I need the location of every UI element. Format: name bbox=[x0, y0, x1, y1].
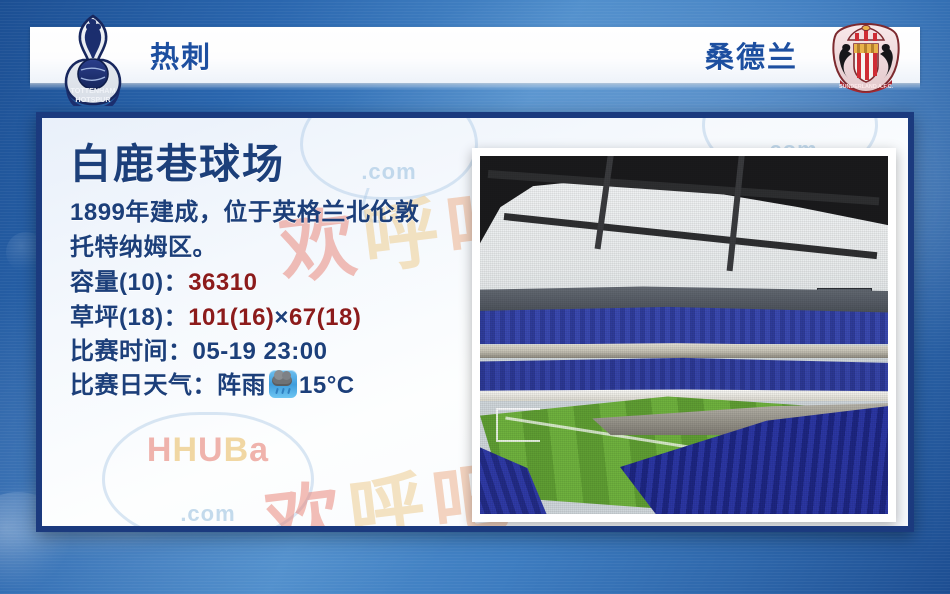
stadium-name-title: 白鹿巷球场 bbox=[70, 142, 500, 186]
sunderland-afc-crest-icon: SUNDERLAND A.F.C. bbox=[830, 22, 902, 94]
match-time-value: 05-19 23:00 bbox=[193, 338, 328, 365]
pitch-size-separator: × bbox=[274, 304, 289, 331]
match-time-row: 比赛时间：05-19 23:00 bbox=[70, 335, 500, 369]
away-team-name: 桑德兰 bbox=[705, 34, 798, 76]
pitch-length-value: 101(16) bbox=[188, 304, 274, 331]
stadium-description-line-1: 1899年建成，位于英格兰北伦敦 bbox=[70, 196, 500, 230]
watermark-cheer-char: 欢 bbox=[261, 473, 355, 526]
stadium-details: 白鹿巷球场 1899年建成，位于英格兰北伦敦 托特纳姆区。 容量(10)：363… bbox=[70, 142, 500, 403]
svg-text:TOTTENHAM: TOTTENHAM bbox=[71, 86, 116, 95]
stadium-photo bbox=[480, 156, 888, 514]
stadium-info-card: 热刺 桑德兰 TOTTENHAM HOTSPUR bbox=[0, 0, 950, 594]
stadium-description-line-2: 托特纳姆区。 bbox=[70, 231, 500, 265]
pitch-width-value: 67(18) bbox=[289, 304, 361, 331]
weather-label: 比赛日天气： bbox=[70, 372, 217, 399]
tottenham-hotspur-crest-icon: TOTTENHAM HOTSPUR bbox=[62, 14, 124, 106]
stadium-info-panel: .com HHUBa .com .com 欢呼吧 欢呼吧 白鹿巷球场 1899年… bbox=[36, 112, 914, 532]
capacity-row: 容量(10)：36310 bbox=[70, 266, 500, 300]
capacity-value: 36310 bbox=[188, 269, 257, 296]
watermark-bubble-left: HHUBa .com bbox=[102, 412, 314, 526]
stadium-photo-frame bbox=[472, 148, 896, 522]
weather-temperature: 15°C bbox=[299, 372, 355, 399]
goal-post bbox=[496, 408, 540, 442]
watermark-cheer-char: 呼 bbox=[344, 463, 438, 526]
home-team-name: 热刺 bbox=[150, 34, 212, 76]
weather-condition: 阵雨 bbox=[217, 372, 266, 399]
pitch-size-row: 草坪(18)：101(16)×67(18) bbox=[70, 301, 500, 335]
watermark-dotcom-text: .com bbox=[105, 501, 311, 526]
svg-text:HOTSPUR: HOTSPUR bbox=[75, 95, 111, 104]
svg-text:SUNDERLAND A.F.C.: SUNDERLAND A.F.C. bbox=[839, 84, 894, 90]
capacity-label: 容量(10)： bbox=[70, 269, 188, 296]
watermark-brand-text: HHUBa bbox=[105, 431, 311, 470]
match-time-label: 比赛时间： bbox=[70, 338, 193, 365]
pitch-size-label: 草坪(18)： bbox=[70, 304, 188, 331]
rain-shower-icon bbox=[269, 370, 297, 398]
lower-tier-seating bbox=[480, 356, 888, 392]
match-day-weather-row: 比赛日天气：阵雨15°C bbox=[70, 369, 500, 403]
